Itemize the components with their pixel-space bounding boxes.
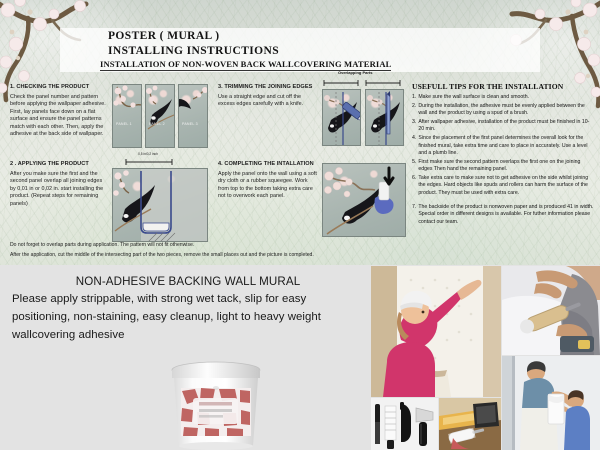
illustration-completing-installation <box>322 163 406 237</box>
squeegee-diagram <box>322 163 406 237</box>
trim-diagram-right <box>365 89 404 146</box>
step-2-body: After you make sure the first and the se… <box>10 171 106 209</box>
step-4-completing-the-installation: 4. COMPLETING THE INTALLATION Apply the … <box>218 161 318 201</box>
step-1-heading: 1. CHECKING THE PRODUCT <box>10 84 106 91</box>
tip-item: 7.The backside of the product is nonwove… <box>412 204 594 226</box>
tip-number: 5. <box>412 159 416 174</box>
tip-text: During the installation, the adhesive mu… <box>418 103 594 118</box>
tip-number: 1. <box>412 94 416 101</box>
poster-title: POSTER ( MURAL ) INSTALLING INSTRUCTIONS <box>108 29 279 59</box>
illustration-applying-panel <box>112 168 208 242</box>
wall-with-panel-diagram <box>112 168 208 242</box>
photo-collage <box>371 266 600 450</box>
step-2-applying-the-product: 2 . APPLYING THE PRODUCT After you make … <box>10 161 106 208</box>
mural-panel-3-label: PANEL 3 <box>182 122 198 126</box>
trim-diagram-left <box>322 89 361 146</box>
tip-text: The backside of the product is nonwoven … <box>418 204 594 226</box>
footnote-2: After the application, cut the middle of… <box>10 250 314 260</box>
tip-text: Make sure the wall surface is clean and … <box>418 94 594 101</box>
step-4-body: Apply the panel onto the wall using a so… <box>218 171 318 201</box>
poster-footnotes: Do not forget to overlap parts during ap… <box>10 240 314 260</box>
tip-number: 4. <box>412 135 416 157</box>
step-3-trimming-the-joining-edges: 3. TRIMMING THE JOINING EDGES Use a stra… <box>218 84 318 109</box>
tip-text: After wallpaper adhesive, installation o… <box>418 119 594 134</box>
step-3-body: Use a straight edge and cut off the exce… <box>218 94 318 109</box>
installation-poster: POSTER ( MURAL ) INSTALLING INSTRUCTIONS… <box>0 0 600 265</box>
tip-number: 6. <box>412 175 416 197</box>
photo-hands-with-roller <box>502 266 600 355</box>
poster-title-line2: INSTALLING INSTRUCTIONS <box>108 44 279 59</box>
poster-subtitle: INSTALLATION OF NON-WOVEN BACK WALLCOVER… <box>100 59 391 71</box>
promo-body: Please apply strippable, with strong wet… <box>12 290 364 344</box>
photo-paint-tray-and-roller <box>439 398 501 450</box>
photo-woman-applying-wallpaper <box>371 266 501 397</box>
tip-text: First make sure the second pattern overl… <box>418 159 594 174</box>
illustration-trimming-edges: Overlapping Parts <box>322 78 404 146</box>
photo-scraper-tools <box>371 398 438 450</box>
tip-item: 6.Take extra care to make sure not to ge… <box>412 175 594 197</box>
step-1-body: Check the panel number and pattern befor… <box>10 94 106 140</box>
tip-number: 2. <box>412 103 416 118</box>
step-3-heading: 3. TRIMMING THE JOINING EDGES <box>218 84 318 91</box>
tip-text: Since the placement of the first panel d… <box>418 135 594 157</box>
mural-panel-1: PANEL 1 <box>112 84 142 148</box>
tip-item: 2.During the installation, the adhesive … <box>412 103 594 118</box>
dimension-callout-label: 0,5 in/0,2 inch <box>126 152 170 156</box>
mural-panel-2-label: PANEL 2 <box>149 122 165 126</box>
mural-panel-1-label: PANEL 1 <box>116 122 132 126</box>
illustration-three-panels: PANEL 1 PANEL 2 PANEL 3 <box>112 84 208 148</box>
mural-panel-2: PANEL 2 <box>145 84 175 148</box>
useful-tips-panel: USEFULL TIPS FOR THE INSTALLATION 1.Make… <box>412 82 594 228</box>
tips-heading: USEFULL TIPS FOR THE INSTALLATION <box>412 82 594 91</box>
step-1-checking-the-product: 1. CHECKING THE PRODUCT Check the panel … <box>10 84 106 139</box>
tip-number: 7. <box>412 204 416 226</box>
tip-item: 4.Since the placement of the first panel… <box>412 135 594 157</box>
adhesive-bucket-image <box>163 358 269 450</box>
photo-father-and-child-wallpapering <box>502 356 600 450</box>
step-2-heading: 2 . APPLYING THE PRODUCT <box>10 161 106 168</box>
tip-item: 5.First make sure the second pattern ove… <box>412 159 594 174</box>
tip-text: Take extra care to make sure not to get … <box>418 175 594 197</box>
mural-panel-3: PANEL 3 <box>178 84 208 148</box>
screenshot-root: POSTER ( MURAL ) INSTALLING INSTRUCTIONS… <box>0 0 600 450</box>
tips-list: 1.Make sure the wall surface is clean an… <box>412 94 594 226</box>
promo-headline: NON-ADHESIVE BACKING WALL MURAL <box>12 273 364 290</box>
footnote-1: Do not forget to overlap parts during ap… <box>10 240 314 250</box>
promo-copy: NON-ADHESIVE BACKING WALL MURAL Please a… <box>12 273 364 344</box>
step-4-heading: 4. COMPLETING THE INTALLATION <box>218 161 318 168</box>
tip-item: 3.After wallpaper adhesive, installation… <box>412 119 594 134</box>
tip-number: 3. <box>412 119 416 134</box>
poster-title-line1: POSTER ( MURAL ) <box>108 29 279 44</box>
tip-item: 1.Make sure the wall surface is clean an… <box>412 94 594 101</box>
tips-spacer <box>412 199 594 203</box>
